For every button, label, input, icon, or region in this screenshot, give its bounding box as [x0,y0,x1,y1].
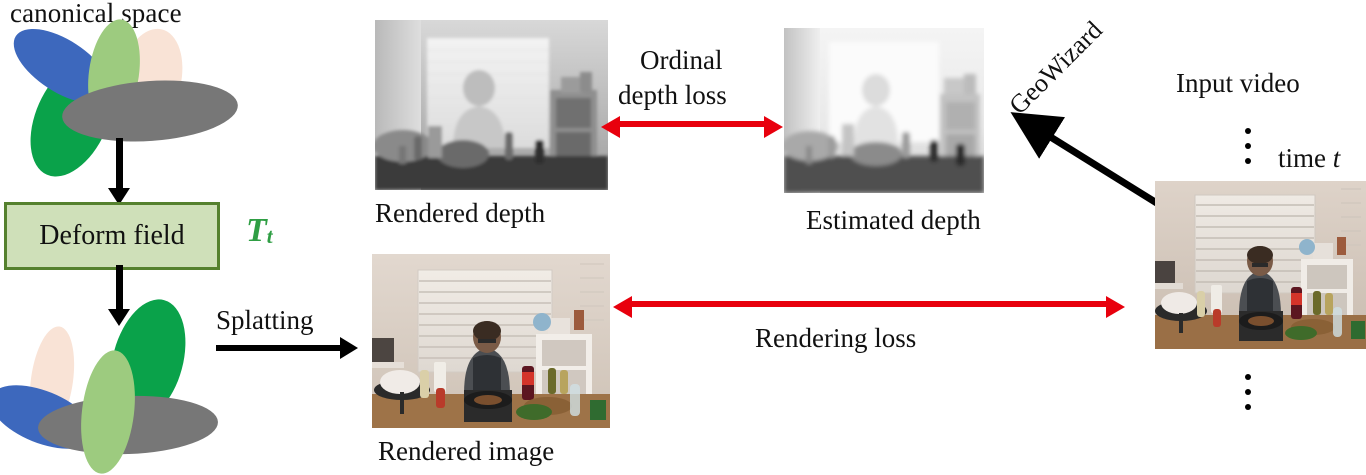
input-video-ellipsis-bottom [1245,374,1251,419]
splatting-arrow-shaft [216,345,344,351]
ordinal-loss-arrow-head-right [764,116,783,138]
ordinal-loss-arrow-head-left [601,116,620,138]
rendered-depth-caption: Rendered depth [375,198,545,229]
ordinal-loss-arrow-shaft [618,121,766,127]
ordinal-depth-loss-line1: Ordinal [640,45,722,76]
time-t-label: time t [1278,143,1340,174]
input-video-ellipsis-top [1245,128,1251,173]
transform-symbol: Tt [246,212,273,250]
deform-field-box[interactable]: Deform field [4,202,220,270]
estimated-depth-caption: Estimated depth [806,205,981,236]
rendering-loss-label: Rendering loss [755,323,916,354]
rendered-image-caption: Rendered image [378,436,554,467]
deform-field-label: Deform field [39,220,184,252]
estimated-depth-image [784,28,984,193]
ordinal-depth-loss-line2: depth loss [618,80,727,111]
input-video-label: Input video [1176,68,1300,99]
input-video-frame [1155,181,1366,349]
canonical-to-deform-arrow-shaft [116,138,123,192]
rendered-depth-image [375,20,608,190]
canonical-gaussians-deformed [0,300,250,475]
rendering-loss-arrow-shaft [630,301,1108,307]
splatting-arrow-head [340,337,358,359]
splatting-label: Splatting [216,305,314,336]
rendering-loss-arrow-head-right [1106,296,1125,318]
rendered-image [372,254,610,428]
rendering-loss-arrow-head-left [613,296,632,318]
canonical-gaussians-top [0,18,260,198]
